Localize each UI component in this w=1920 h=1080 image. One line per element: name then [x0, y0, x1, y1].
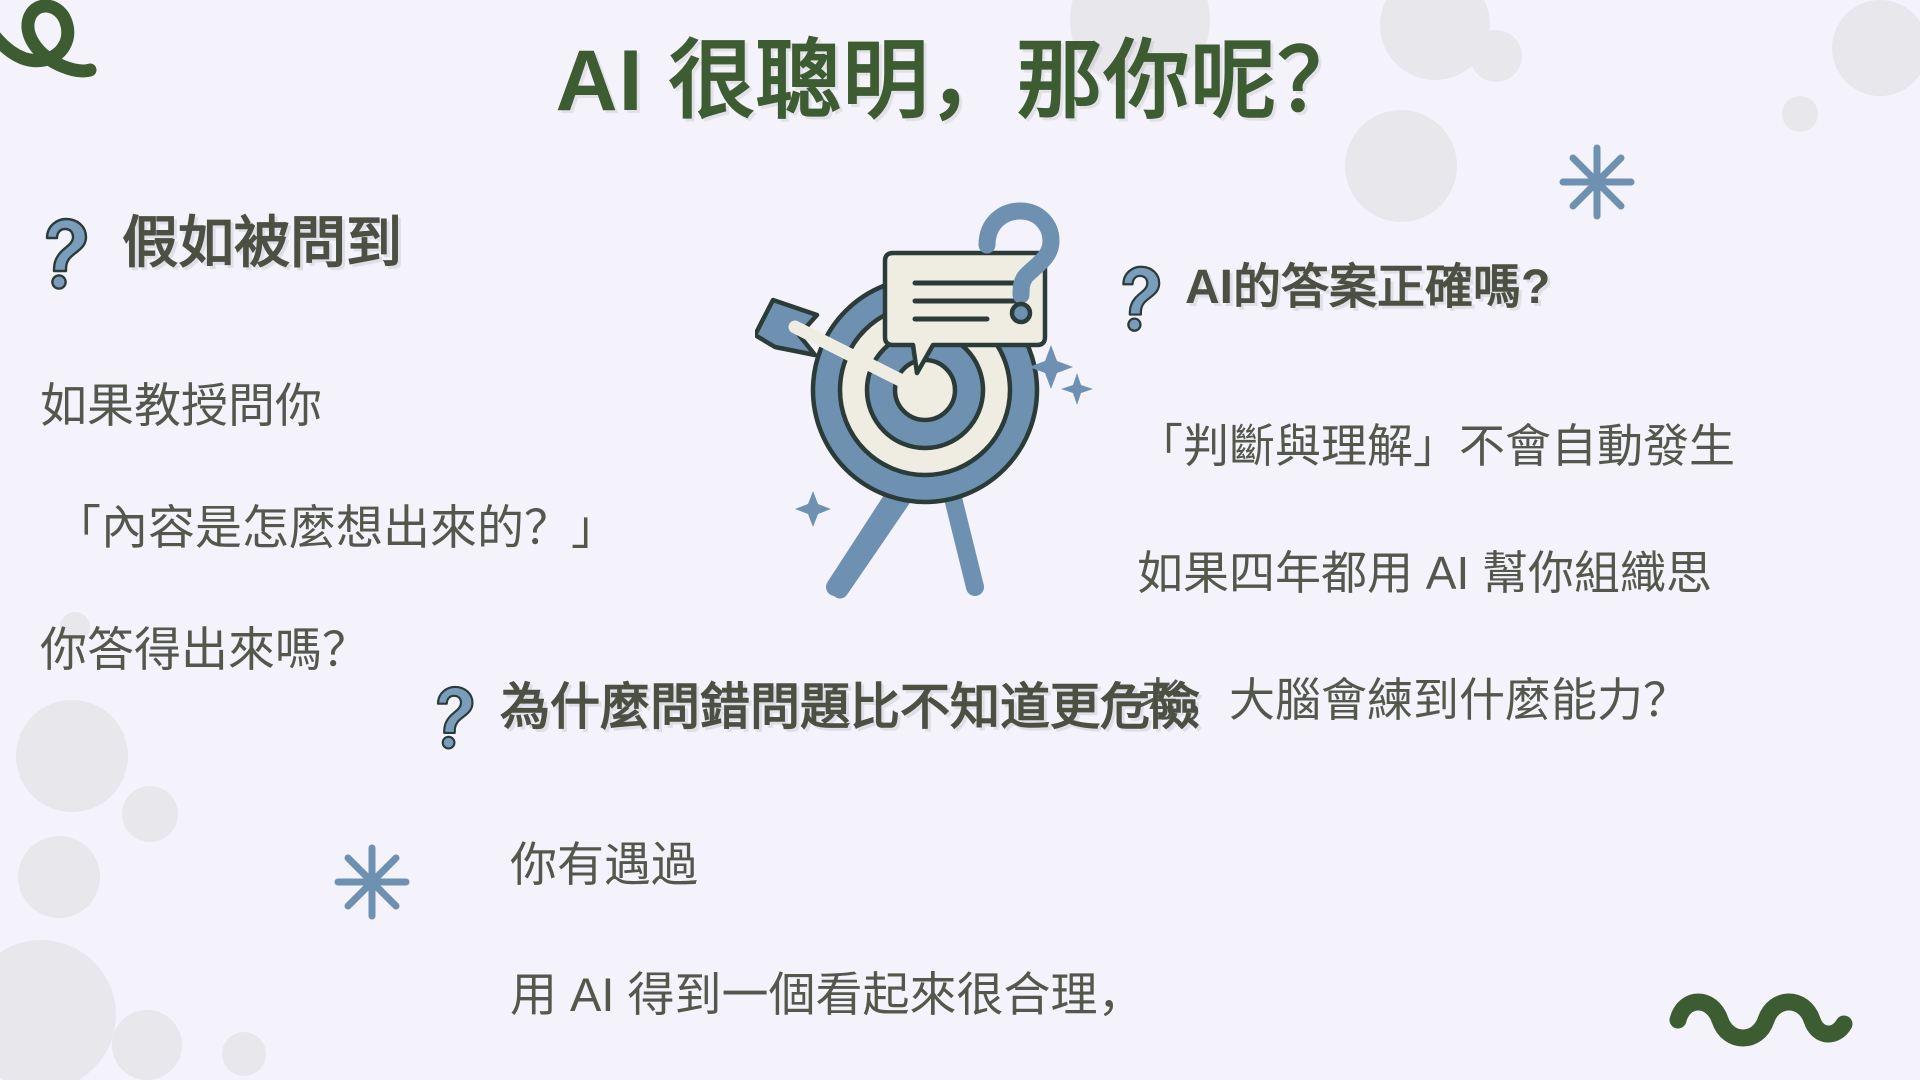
section-heading: 假如被問到	[122, 212, 402, 274]
deco-circle	[18, 836, 100, 918]
blue-sparkle-star-icon	[1555, 140, 1639, 224]
body-line: 「判斷與理解」不會自動發生	[1137, 420, 1735, 472]
deco-circle	[0, 940, 116, 1080]
section-body: 「判斷與理解」不會自動發生 如果四年都用 AI 幫你組織思 考，大腦會練到什麼能…	[1137, 352, 1915, 733]
deco-circle	[122, 786, 178, 842]
section-heading-row: 為什麼問錯問題比不知道更危險	[430, 680, 1510, 750]
slide-canvas: AI 很聰明，那你呢？ 假如被問到 如果教授問你 「內容是怎麼想出來的？」 你答…	[0, 0, 1920, 1080]
section-body: 如果教授問你 「內容是怎麼想出來的？」 你答得出來嗎？	[40, 314, 698, 681]
green-wave-squiggle-icon	[1668, 980, 1868, 1050]
section-heading: AI的答案正確嗎?	[1185, 262, 1550, 315]
body-line: 你有遇過	[510, 838, 698, 891]
page-title: AI 很聰明，那你呢？	[0, 36, 1920, 126]
question-mark-icon	[1115, 264, 1163, 332]
deco-circle	[112, 1010, 182, 1080]
target-illustration	[755, 195, 1095, 620]
body-line: 你答得出來嗎？	[40, 623, 369, 676]
body-line: 用 AI 得到一個看起來很合理，	[510, 968, 1145, 1021]
body-line: 如果四年都用 AI 幫你組織思	[1137, 547, 1712, 599]
body-line: 「內容是怎麼想出來的？」	[40, 497, 698, 558]
section-heading-row: 假如被問到	[38, 212, 698, 290]
question-mark-icon	[430, 684, 476, 750]
deco-circle	[16, 700, 128, 812]
section-heading: 為什麼問錯問題比不知道更危險	[500, 680, 1200, 735]
deco-circle	[222, 1032, 266, 1076]
blue-sparkle-star-icon	[330, 840, 414, 924]
section-heading-row: AI的答案正確嗎?	[1115, 262, 1915, 332]
section-assumed-question: 假如被問到 如果教授問你 「內容是怎麼想出來的？」 你答得出來嗎？	[38, 212, 698, 681]
section-body: 你有遇過 用 AI 得到一個看起來很合理， 但沒幫助的答案嗎?	[510, 768, 1510, 1080]
body-line: 如果教授問你	[40, 379, 322, 432]
question-mark-icon	[38, 216, 90, 290]
section-ai-answer-correct: AI的答案正確嗎? 「判斷與理解」不會自動發生 如果四年都用 AI 幫你組織思 …	[1115, 262, 1915, 733]
section-wrong-question-danger: 為什麼問錯問題比不知道更危險 你有遇過 用 AI 得到一個看起來很合理， 但沒幫…	[430, 680, 1510, 1080]
